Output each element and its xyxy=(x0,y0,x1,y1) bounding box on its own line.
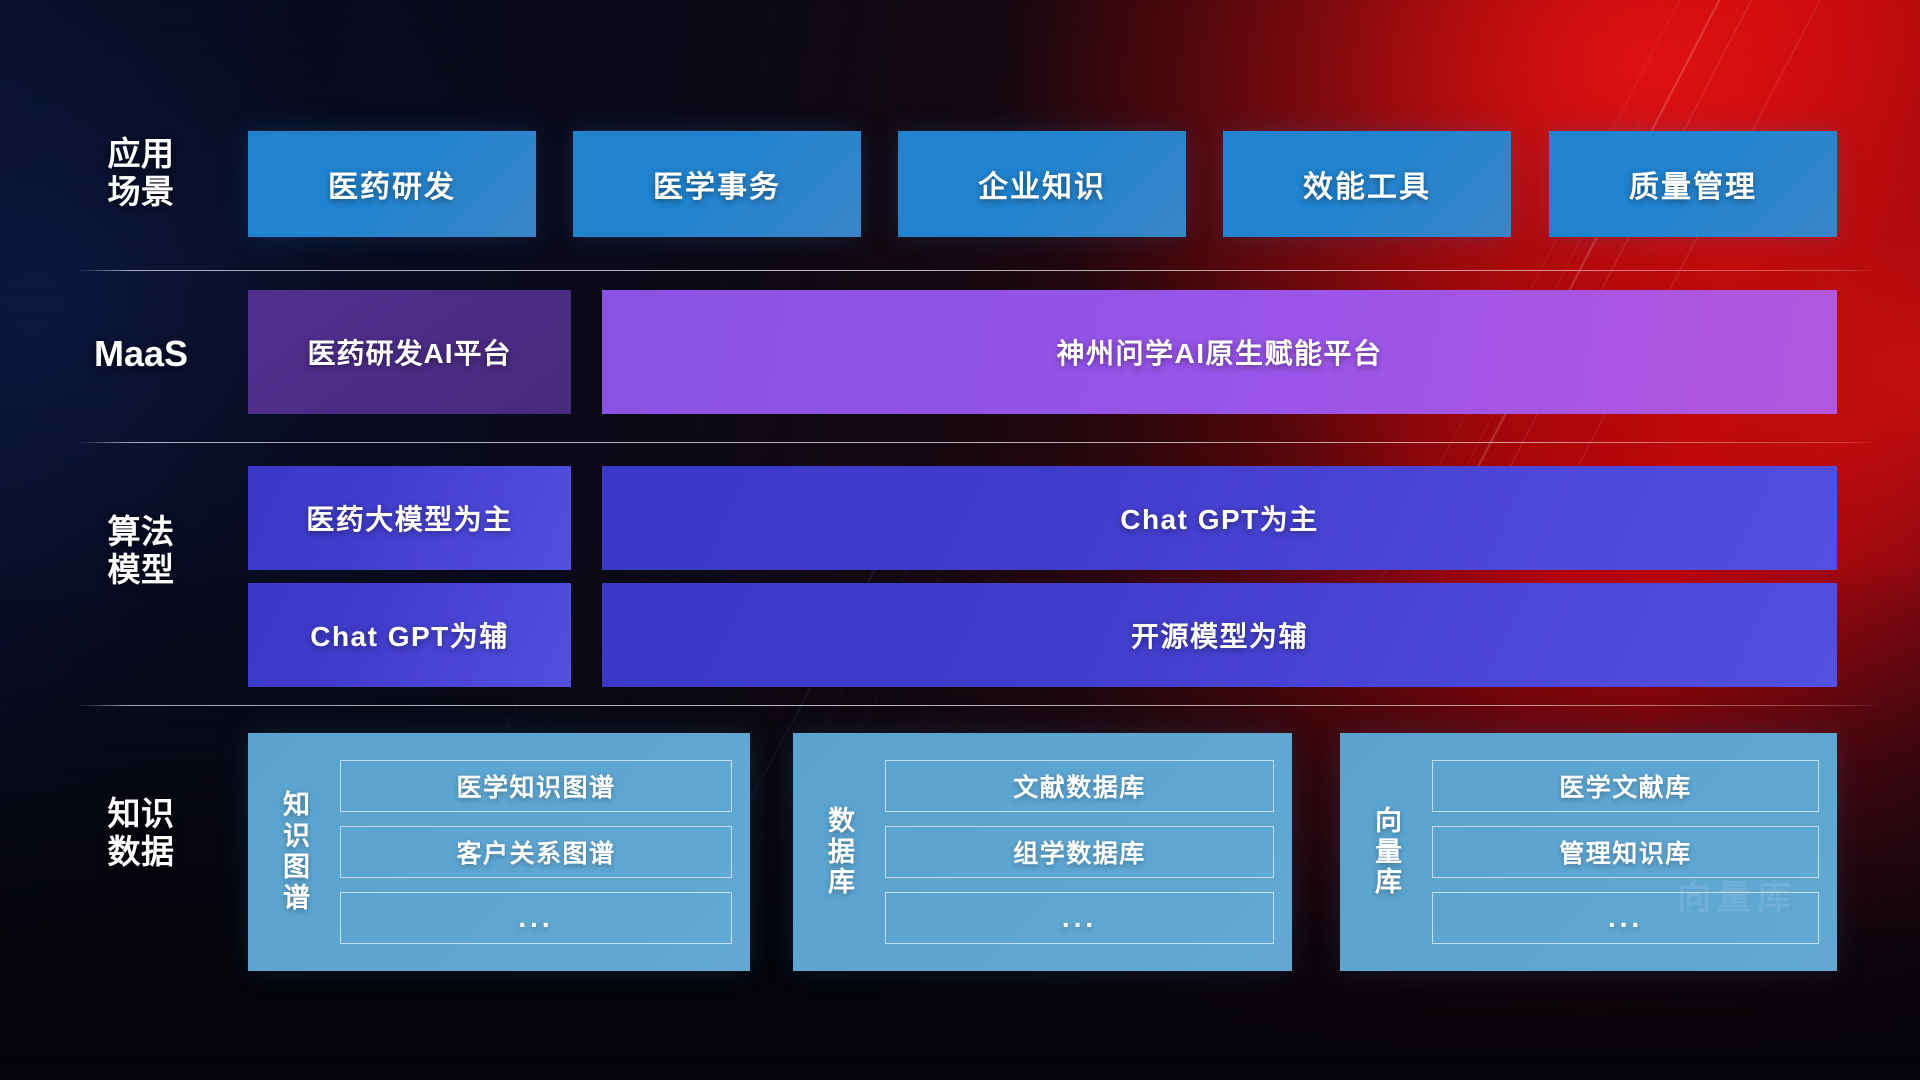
row-label-line-2: 数据 xyxy=(76,833,206,871)
knowledge-item[interactable]: 医学知识图谱 xyxy=(340,760,732,812)
title-char: 数 xyxy=(828,806,856,837)
title-char: 量 xyxy=(1375,837,1403,868)
title-char: 向 xyxy=(1375,806,1403,837)
maas-card-drug-rnd-platform[interactable]: 医药研发AI平台 xyxy=(248,290,571,414)
knowledge-group-title-vector: 向 量 库 xyxy=(1362,806,1416,898)
app-scenario-card-1[interactable]: 医药研发 xyxy=(248,131,536,237)
title-char: 库 xyxy=(1375,867,1403,898)
knowledge-group-title-graph: 知 识 图 谱 xyxy=(270,790,324,913)
knowledge-group-title-database: 数 据 库 xyxy=(815,806,869,898)
title-char: 知 xyxy=(283,790,311,821)
algo-card-right-secondary[interactable]: 开源模型为辅 xyxy=(602,583,1837,687)
knowledge-item-more[interactable]: ... xyxy=(1432,892,1819,944)
app-scenario-card-2[interactable]: 医学事务 xyxy=(573,131,861,237)
knowledge-items-database: 文献数据库 组学数据库 ... xyxy=(885,760,1274,944)
knowledge-items-vector: 医学文献库 管理知识库 ... xyxy=(1432,760,1819,944)
title-char: 谱 xyxy=(283,883,311,914)
knowledge-item[interactable]: 文献数据库 xyxy=(885,760,1274,812)
title-char: 图 xyxy=(283,852,311,883)
divider-after-maas-row xyxy=(76,442,1880,443)
row-label-maas: MaaS xyxy=(76,333,206,375)
row-label-application-scenario: 应用 场景 xyxy=(76,135,206,212)
title-char: 据 xyxy=(828,837,856,868)
title-char: 库 xyxy=(828,867,856,898)
row-label-line-1: 知识 xyxy=(76,795,206,833)
row-label-line-2: 模型 xyxy=(76,551,206,589)
row-label-algorithm-model: 算法 模型 xyxy=(76,513,206,590)
app-scenario-card-5[interactable]: 质量管理 xyxy=(1549,131,1837,237)
knowledge-item[interactable]: 客户关系图谱 xyxy=(340,826,732,878)
divider-after-application-row xyxy=(76,270,1880,271)
algo-card-right-primary[interactable]: Chat GPT为主 xyxy=(602,466,1837,570)
knowledge-item-more[interactable]: ... xyxy=(885,892,1274,944)
row-label-line-1: 应用 xyxy=(76,135,206,173)
row-label-knowledge-data: 知识 数据 xyxy=(76,795,206,872)
row-label-line-2: 场景 xyxy=(76,173,206,211)
knowledge-item[interactable]: 医学文献库 xyxy=(1432,760,1819,812)
knowledge-items-graph: 医学知识图谱 客户关系图谱 ... xyxy=(340,760,732,944)
diagram-canvas: 应用 场景 医药研发 医学事务 企业知识 效能工具 质量管理 MaaS 医药研发… xyxy=(0,0,1920,1080)
knowledge-item[interactable]: 管理知识库 xyxy=(1432,826,1819,878)
knowledge-item-more[interactable]: ... xyxy=(340,892,732,944)
app-scenario-card-4[interactable]: 效能工具 xyxy=(1223,131,1511,237)
title-char: 识 xyxy=(283,821,311,852)
row-label-line-1: 算法 xyxy=(76,513,206,551)
knowledge-group-database[interactable]: 数 据 库 文献数据库 组学数据库 ... xyxy=(793,733,1292,971)
knowledge-item[interactable]: 组学数据库 xyxy=(885,826,1274,878)
maas-card-shenzhou-platform[interactable]: 神州问学AI原生赋能平台 xyxy=(602,290,1837,414)
algo-card-left-primary[interactable]: 医药大模型为主 xyxy=(248,466,571,570)
app-scenario-card-3[interactable]: 企业知识 xyxy=(898,131,1186,237)
knowledge-group-graph[interactable]: 知 识 图 谱 医学知识图谱 客户关系图谱 ... xyxy=(248,733,750,971)
knowledge-group-vector[interactable]: 向 量 库 医学文献库 管理知识库 ... 向量库 xyxy=(1340,733,1837,971)
algo-card-left-secondary[interactable]: Chat GPT为辅 xyxy=(248,583,571,687)
divider-after-algorithm-row xyxy=(76,705,1880,706)
